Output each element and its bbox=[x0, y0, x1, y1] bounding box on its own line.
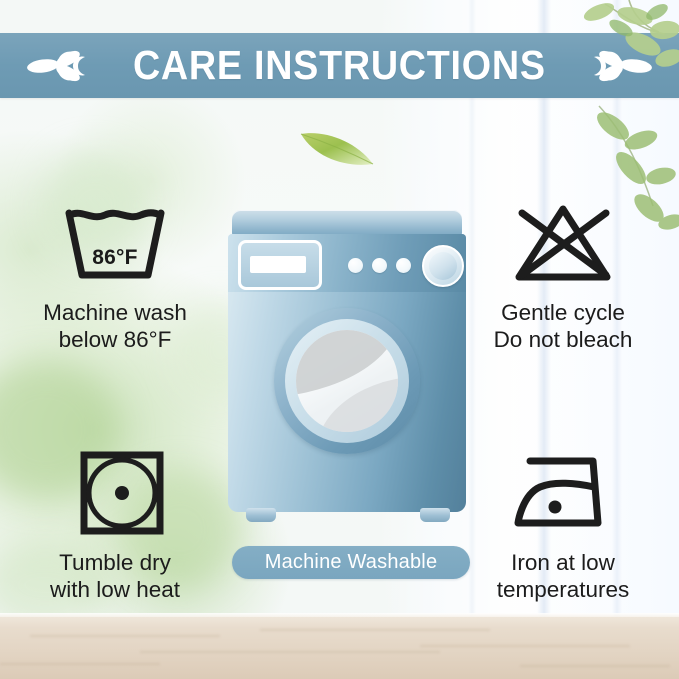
washing-machine-illustration bbox=[228, 210, 466, 530]
wooden-table-surface bbox=[0, 617, 679, 679]
washer-door-glass bbox=[296, 330, 398, 432]
iron-icon bbox=[458, 445, 668, 541]
program-selector-knob bbox=[422, 245, 464, 287]
care-symbol-caption: Iron at low temperatures bbox=[458, 549, 668, 604]
detergent-drawer bbox=[238, 240, 322, 290]
page-title: CARE INSTRUCTIONS bbox=[133, 45, 546, 86]
machine-washable-badge: Machine Washable bbox=[232, 546, 470, 579]
care-symbol-machine-wash: 86°F Machine wash below 86°F bbox=[10, 195, 220, 354]
machine-foot-left bbox=[246, 508, 276, 522]
wash-tub-icon: 86°F bbox=[10, 195, 220, 291]
wash-temperature-value: 86°F bbox=[62, 246, 168, 270]
triangle-crossed-out-icon bbox=[458, 195, 668, 291]
machine-top-lid bbox=[232, 210, 462, 236]
washer-door bbox=[274, 308, 420, 454]
machine-button-2 bbox=[372, 258, 387, 273]
care-symbol-iron: Iron at low temperatures bbox=[458, 445, 668, 604]
machine-foot-right bbox=[420, 508, 450, 522]
washer-door-ring bbox=[285, 319, 409, 443]
care-symbol-tumble-dry: Tumble dry with low heat bbox=[10, 445, 220, 604]
care-symbol-caption: Machine wash below 86°F bbox=[10, 299, 220, 354]
machine-button-3 bbox=[396, 258, 411, 273]
care-symbol-no-bleach: Gentle cycle Do not bleach bbox=[458, 195, 668, 354]
detergent-drawer-slot bbox=[250, 256, 306, 273]
tumble-dry-icon bbox=[10, 445, 220, 541]
care-instructions-infographic: CARE INSTRUCTIONS 86°F bbox=[0, 0, 679, 679]
machine-button-1 bbox=[348, 258, 363, 273]
corner-branch-icon bbox=[569, 0, 679, 160]
badge-label: Machine Washable bbox=[265, 551, 438, 574]
care-symbol-caption: Gentle cycle Do not bleach bbox=[458, 299, 668, 354]
fleur-de-lis-icon-left bbox=[27, 46, 91, 86]
floating-leaf-icon bbox=[297, 124, 377, 172]
care-symbol-caption: Tumble dry with low heat bbox=[10, 549, 220, 604]
